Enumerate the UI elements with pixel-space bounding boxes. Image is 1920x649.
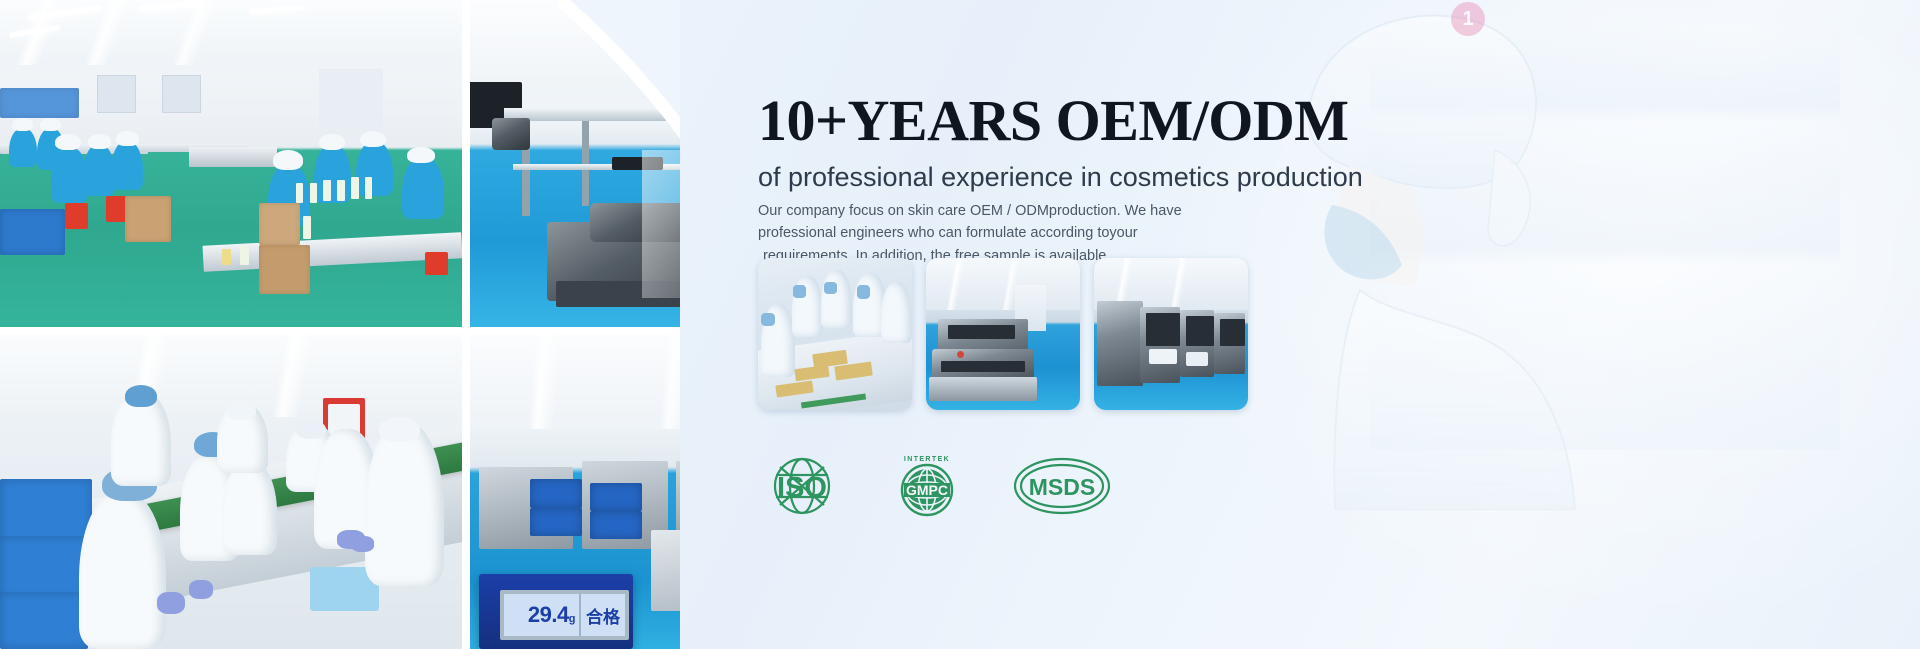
certification-badges: ISO INTERTEK GMP [762, 452, 1112, 520]
thumbnail-packing[interactable] [758, 258, 912, 410]
photo-conveyor-packing-line [0, 335, 462, 649]
gmpc-badge: INTERTEK GMPC [890, 452, 964, 520]
msds-label: MSDS [1029, 474, 1095, 500]
thumbnail-gallery [758, 258, 1248, 410]
promo-banner: 29.4g 合格 [0, 0, 1920, 649]
description-line-1: Our company focus on skin care OEM / ODM… [758, 200, 1178, 222]
page-title: 10+YEARS OEM/ODM [758, 92, 1349, 150]
collage-vertical-seam [462, 0, 470, 649]
content-panel: 1 10+YEARS OEM/ODM of professional exper… [680, 0, 1920, 649]
photo-assembly-line-blue-uniform [0, 0, 462, 327]
gmpc-label: GMPC [906, 482, 948, 498]
gmpc-superscript: INTERTEK [904, 456, 950, 463]
page-subtitle: of professional experience in cosmetics … [758, 164, 1363, 191]
scale-reading: 29.4g [528, 602, 579, 628]
msds-badge: MSDS [1012, 455, 1112, 517]
thumbnail-machine-hall[interactable] [1094, 258, 1248, 410]
thumbnail-filling-line[interactable] [926, 258, 1080, 410]
ghost-worker-illustration [1240, 0, 1640, 510]
description-line-2: professional engineers who can formulate… [758, 222, 1178, 244]
scale-verdict: 合格 [579, 594, 625, 636]
corner-number-badge: 1 [1451, 2, 1485, 36]
iso-badge: ISO [762, 455, 842, 517]
